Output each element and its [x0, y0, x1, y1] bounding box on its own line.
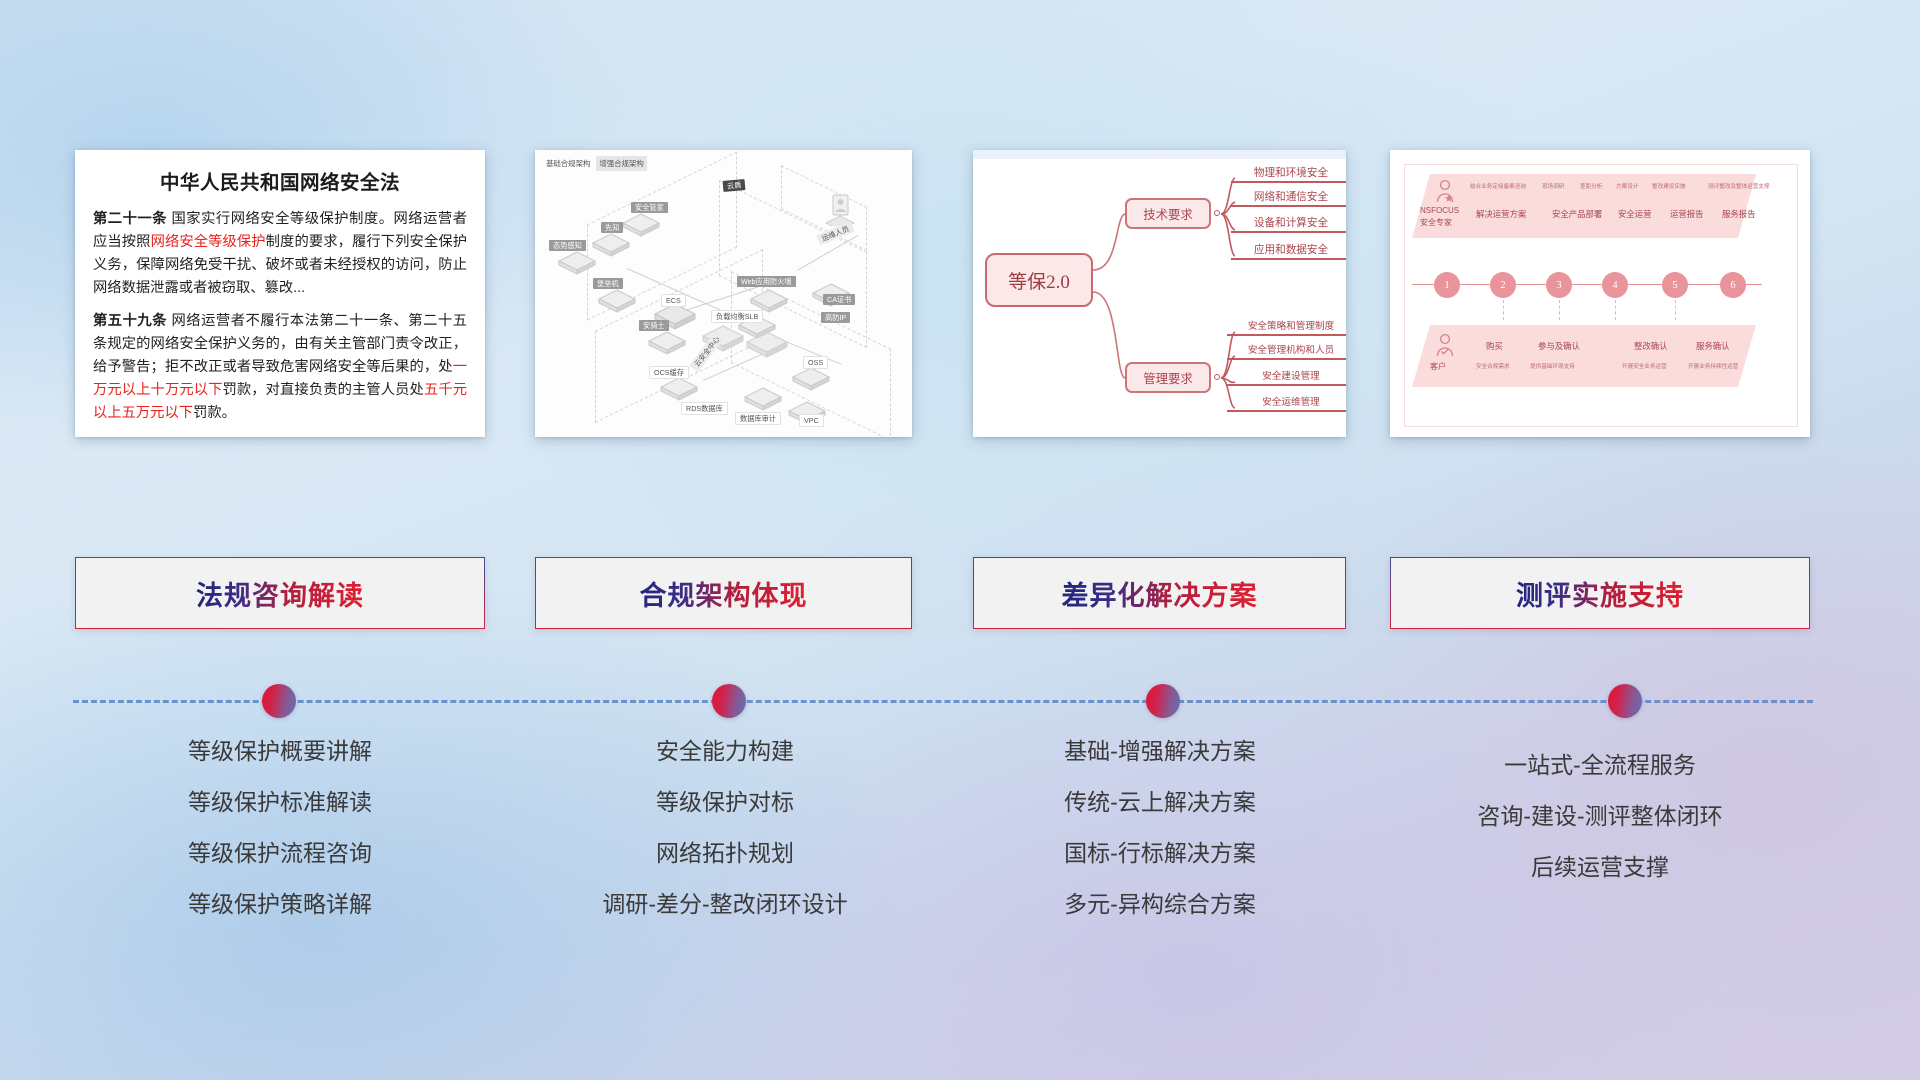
mindmap-leaf-physical-env[interactable]: 物理和环境安全 — [1231, 168, 1346, 183]
banner-compliance-architecture[interactable]: 合规架构体现 — [535, 557, 912, 629]
list-item: 等级保护流程咨询 — [75, 842, 485, 865]
list-item: 多元-异构综合方案 — [955, 893, 1365, 916]
flow-top-label-4: 运营报告 — [1670, 208, 1704, 220]
list-item: 后续运营支撑 — [1390, 856, 1810, 879]
flow-step-1[interactable]: 1 — [1434, 272, 1460, 298]
list-item: 网络拓扑规划 — [520, 842, 930, 865]
flow-top-label-1: 解决运营方案 — [1476, 208, 1526, 220]
flow-tick-2 — [1503, 300, 1504, 320]
flow-bottom-caption-4: 开展业务持续性运营 — [1688, 362, 1738, 370]
flow-top-label-3: 安全运营 — [1618, 208, 1652, 220]
mindmap-leaf-app-data[interactable]: 应用和数据安全 — [1231, 245, 1346, 260]
timeline-dot-1[interactable] — [262, 684, 296, 718]
mindmap-branch-management[interactable]: 管理要求 — [1125, 362, 1211, 393]
mindmap-root-node[interactable]: 等保2.0 — [985, 253, 1093, 307]
list-item: 调研-差分-整改闭环设计 — [520, 893, 930, 916]
mindmap-canvas: 等保2.0 技术要求 物理和环境安全 网络和通信安全 设备和计算安全 应用和数据… — [973, 150, 1346, 437]
flow-top-caption-6: 测评整改及整体运营支撑 — [1708, 182, 1770, 190]
expert-label-brand: NSFOCUS — [1420, 206, 1459, 216]
banner-differentiated-solution[interactable]: 差异化解决方案 — [973, 557, 1346, 629]
flow-step-2[interactable]: 2 — [1490, 272, 1516, 298]
mindmap-branch-technical[interactable]: 技术要求 — [1125, 198, 1211, 229]
flow-client-band — [1412, 325, 1756, 387]
banner-label-3: 差异化解决方案 — [1062, 574, 1258, 613]
label-waf: Web应用防火墙 — [737, 276, 796, 287]
label-vpc: VPC — [799, 414, 824, 427]
device-icon-operator — [825, 192, 855, 226]
law-p2-text-b: 罚款，对直接负责的主管人员处 — [223, 382, 424, 398]
list-item: 咨询-建设-测评整体闭环 — [1390, 805, 1810, 828]
device-icon-db-audit — [743, 386, 783, 412]
list-item: 安全能力构建 — [520, 740, 930, 763]
flow-top-caption-3: 差距分析 — [1580, 182, 1602, 190]
device-icon-bastion-host — [597, 288, 637, 314]
timeline-dot-3[interactable] — [1146, 684, 1180, 718]
flow-step-5[interactable]: 5 — [1662, 272, 1688, 298]
label-oss: OSS — [803, 356, 828, 369]
banner-assessment-support[interactable]: 测评实施支持 — [1390, 557, 1810, 629]
law-body: 中华人民共和国网络安全法 第二十一条 国家实行网络安全等级保护制度。网络运营者应… — [75, 150, 485, 437]
flow-top-label-5: 服务报告 — [1722, 208, 1756, 220]
flow-bottom-caption-3: 开展安全业务运营 — [1622, 362, 1667, 370]
device-icon-anqishi — [647, 330, 687, 356]
client-label-role: 客户 — [1430, 362, 1446, 372]
law-paragraph-21: 第二十一条 国家实行网络安全等级保护制度。网络运营者应当按照网络安全等级保护制度… — [93, 208, 467, 301]
flow-top-caption-5: 整改建设实施 — [1652, 182, 1686, 190]
mindmap-leaf-policy-system[interactable]: 安全策略和管理制度 — [1227, 322, 1346, 336]
banner-label-4: 测评实施支持 — [1516, 574, 1684, 613]
law-article-21-label: 第二十一条 — [93, 211, 167, 227]
label-ocs-cache: OCS缓存 — [649, 366, 689, 379]
list-item: 一站式-全流程服务 — [1390, 754, 1810, 777]
flow-step-6[interactable]: 6 — [1720, 272, 1746, 298]
device-icon-xianzhi — [591, 232, 631, 258]
mindmap-leaf-device-compute[interactable]: 设备和计算安全 — [1231, 218, 1346, 233]
flow-bottom-caption-1: 安全合规需求 — [1476, 362, 1510, 370]
flow-step-4[interactable]: 4 — [1602, 272, 1628, 298]
label-xianzhi: 先知 — [601, 222, 623, 233]
flow-top-caption-2: 现场调研 — [1542, 182, 1564, 190]
label-security-manager: 安全管家 — [631, 202, 668, 213]
list-column-3: 基础-增强解决方案 传统-云上解决方案 国标-行标解决方案 多元-异构综合方案 — [955, 740, 1365, 944]
mindmap-leaf-construction-mgmt[interactable]: 安全建设管理 — [1227, 372, 1346, 386]
label-bastion-host: 堡垒机 — [593, 278, 623, 289]
collapse-knob-icon-technical[interactable] — [1214, 210, 1220, 216]
card-architecture-diagram[interactable]: 基础合规架构 增强合规架构 — [535, 150, 912, 437]
flow-tick-4 — [1615, 300, 1616, 320]
timeline-dot-4[interactable] — [1608, 684, 1642, 718]
law-p1-highlight: 网络安全等级保护 — [151, 234, 266, 250]
card-implementation-flow[interactable]: NSFOCUS 安全专家 客户 结合业务定级备案咨询 现场调研 差距分析 方案设… — [1390, 150, 1810, 437]
label-cloud-shield: 云盾 — [723, 179, 746, 192]
mindmap-leaf-ops-mgmt[interactable]: 安全运维管理 — [1227, 398, 1346, 412]
card-law-text[interactable]: 中华人民共和国网络安全法 第二十一条 国家实行网络安全等级保护制度。网络运营者应… — [75, 150, 485, 437]
architecture-canvas: 基础合规架构 增强合规架构 — [535, 150, 912, 437]
mindmap-leaf-network-comm[interactable]: 网络和通信安全 — [1231, 192, 1346, 207]
list-item: 等级保护对标 — [520, 791, 930, 814]
device-icon-situational-awareness — [557, 250, 597, 276]
banner-regulation-consulting[interactable]: 法规咨询解读 — [75, 557, 485, 629]
label-anqishi: 安骑士 — [639, 320, 669, 331]
list-item: 等级保护概要讲解 — [75, 740, 485, 763]
label-ca-cert: CA证书 — [823, 294, 855, 305]
expert-person-icon — [1432, 178, 1458, 204]
tab-enhanced-architecture[interactable]: 增强合规架构 — [596, 156, 646, 171]
architecture-tabs[interactable]: 基础合规架构 增强合规架构 — [543, 156, 647, 171]
cards-row: 中华人民共和国网络安全法 第二十一条 国家实行网络安全等级保护制度。网络运营者应… — [0, 0, 1920, 460]
law-article-59-label: 第五十九条 — [93, 313, 167, 329]
list-column-2: 安全能力构建 等级保护对标 网络拓扑规划 调研-差分-整改闭环设计 — [520, 740, 930, 944]
timeline-dot-2[interactable] — [712, 684, 746, 718]
flow-top-caption-1: 结合业务定级备案咨询 — [1470, 182, 1526, 190]
banner-label-2: 合规架构体现 — [640, 574, 808, 613]
list-item: 等级保护策略详解 — [75, 893, 485, 916]
flow-canvas: NSFOCUS 安全专家 客户 结合业务定级备案咨询 现场调研 差距分析 方案设… — [1390, 150, 1810, 437]
label-slb: 负载均衡SLB — [711, 310, 763, 323]
device-icon-oss — [791, 366, 831, 392]
law-title: 中华人民共和国网络安全法 — [93, 166, 467, 195]
label-situational-awareness: 态势感知 — [549, 240, 586, 251]
mindmap-leaf-org-personnel[interactable]: 安全管理机构和人员 — [1227, 346, 1346, 360]
label-ecs: ECS — [661, 294, 686, 307]
flow-bottom-label-4: 服务确认 — [1696, 340, 1730, 352]
list-column-1: 等级保护概要讲解 等级保护标准解读 等级保护流程咨询 等级保护策略详解 — [75, 740, 485, 944]
flow-bottom-label-3: 整改确认 — [1634, 340, 1668, 352]
flow-bottom-label-1: 购买 — [1486, 340, 1503, 352]
list-item: 传统-云上解决方案 — [955, 791, 1365, 814]
collapse-knob-icon-management[interactable] — [1214, 374, 1220, 380]
list-column-4: 一站式-全流程服务 咨询-建设-测评整体闭环 后续运营支撑 — [1390, 754, 1810, 907]
law-paragraph-59: 第五十九条 网络运营者不履行本法第二十一条、第二十五条规定的网络安全保护义务的，… — [93, 310, 467, 426]
banner-label-1: 法规咨询解读 — [196, 574, 364, 613]
law-p2-text-c: 罚款。 — [193, 405, 236, 421]
flow-top-caption-4: 方案设计 — [1616, 182, 1638, 190]
list-item: 国标-行标解决方案 — [955, 842, 1365, 865]
tab-basic-architecture[interactable]: 基础合规架构 — [543, 156, 593, 171]
label-rds: RDS数据库 — [681, 402, 728, 415]
flow-top-label-2: 安全产品部署 — [1552, 208, 1602, 220]
flow-tick-5 — [1675, 300, 1676, 320]
expert-label-role: 安全专家 — [1420, 218, 1452, 228]
list-item: 等级保护标准解读 — [75, 791, 485, 814]
label-anti-ddos: 高防IP — [821, 312, 850, 323]
device-icon-ocs-cache — [659, 376, 699, 402]
flow-axis-line — [1412, 284, 1762, 285]
flow-bottom-caption-2: 提供基础环境支持 — [1530, 362, 1575, 370]
label-db-audit: 数据库审计 — [735, 412, 781, 425]
client-person-icon — [1432, 332, 1458, 358]
flow-bottom-label-2: 参与及确认 — [1538, 340, 1580, 352]
flow-tick-3 — [1559, 300, 1560, 320]
timeline-dashed-line — [73, 700, 1813, 703]
flow-step-3[interactable]: 3 — [1546, 272, 1572, 298]
card-mindmap[interactable]: 等保2.0 技术要求 物理和环境安全 网络和通信安全 设备和计算安全 应用和数据… — [973, 150, 1346, 437]
list-item: 基础-增强解决方案 — [955, 740, 1365, 763]
